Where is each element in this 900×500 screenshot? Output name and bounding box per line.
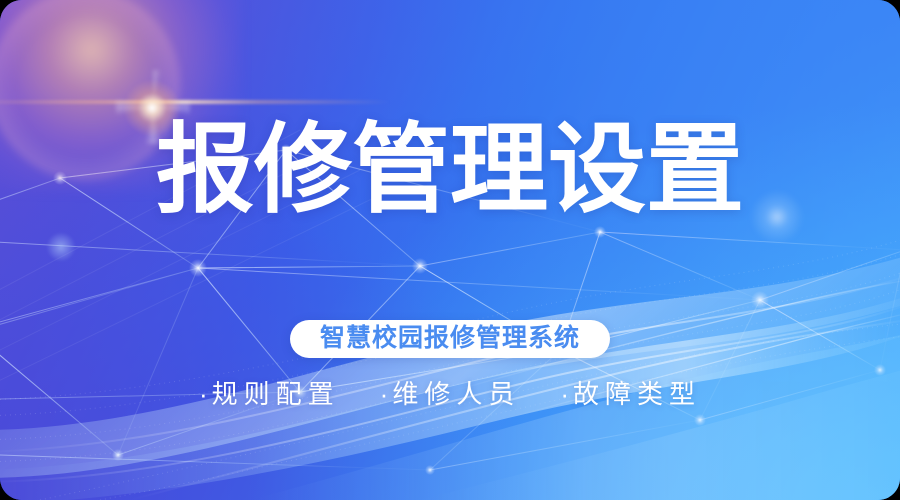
promo-banner: 报修管理设置 智慧校园报修管理系统 · 规则配置 · 维修人员 · 故障类型 bbox=[0, 0, 900, 500]
tagline-item-label: 维修人员 bbox=[392, 374, 520, 411]
tagline-item-label: 故障类型 bbox=[573, 374, 701, 411]
bullet-dot-icon: · bbox=[199, 379, 208, 410]
page-title: 报修管理设置 bbox=[156, 118, 744, 222]
tagline-item-fault-type: · 故障类型 bbox=[560, 374, 701, 411]
banner-content: 报修管理设置 智慧校园报修管理系统 · 规则配置 · 维修人员 · 故障类型 bbox=[0, 0, 900, 500]
bullet-dot-icon: · bbox=[380, 379, 389, 410]
tagline-item-staff: · 维修人员 bbox=[380, 374, 521, 411]
tagline-item-label: 规则配置 bbox=[212, 374, 340, 411]
tagline-item-rules: · 规则配置 bbox=[199, 374, 340, 411]
bullet-dot-icon: · bbox=[560, 379, 569, 410]
subtitle-badge: 智慧校园报修管理系统 bbox=[290, 320, 610, 358]
tagline-list: · 规则配置 · 维修人员 · 故障类型 bbox=[199, 374, 701, 411]
subtitle-badge-label: 智慧校园报修管理系统 bbox=[320, 326, 580, 351]
